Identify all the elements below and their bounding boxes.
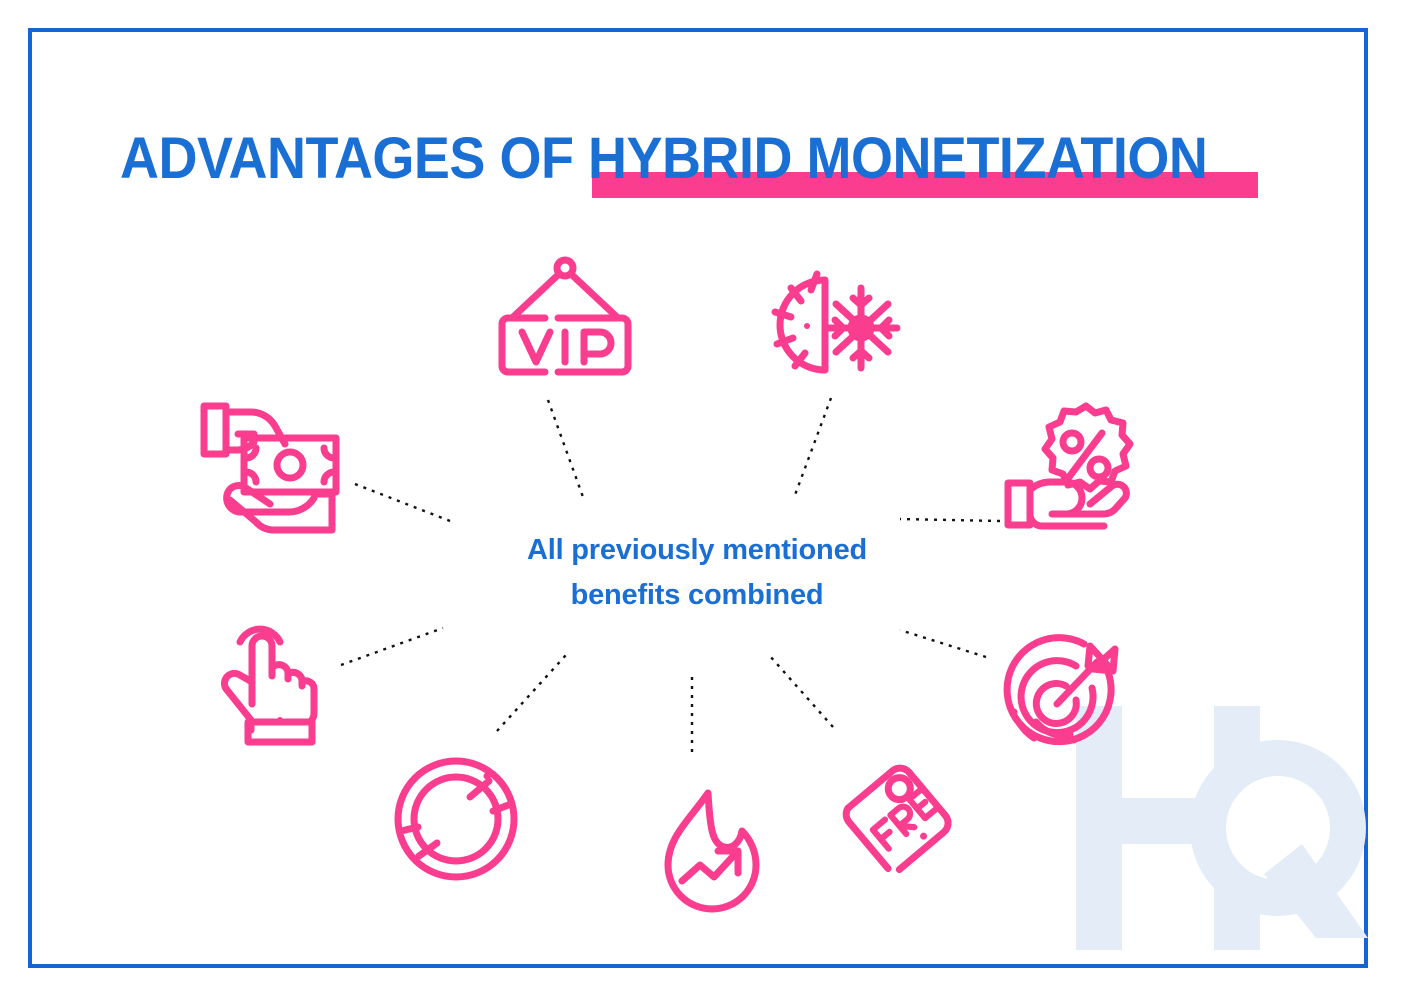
center-label: All previously mentioned benefits combin… bbox=[462, 528, 932, 618]
tap-hand-icon bbox=[218, 618, 318, 748]
donut-chart-icon bbox=[392, 755, 522, 883]
center-label-line-1: All previously mentioned bbox=[462, 528, 932, 573]
title-text-highlighted: HYBRID MONETIZATION bbox=[588, 126, 1207, 191]
flame-trending-up-icon bbox=[660, 785, 770, 915]
title-text-plain: ADVANTAGES OF bbox=[120, 126, 588, 191]
free-price-tag-icon bbox=[832, 748, 977, 883]
money-exchange-hands-icon bbox=[196, 398, 346, 538]
center-label-line-2: benefits combined bbox=[462, 573, 932, 618]
target-arrow-icon bbox=[992, 628, 1132, 763]
vip-sign-icon bbox=[490, 256, 640, 386]
hand-percent-badge-icon bbox=[1000, 400, 1140, 530]
sun-snowflake-icon bbox=[765, 268, 910, 383]
page-title: ADVANTAGES OF HYBRID MONETIZATION bbox=[120, 128, 1289, 190]
